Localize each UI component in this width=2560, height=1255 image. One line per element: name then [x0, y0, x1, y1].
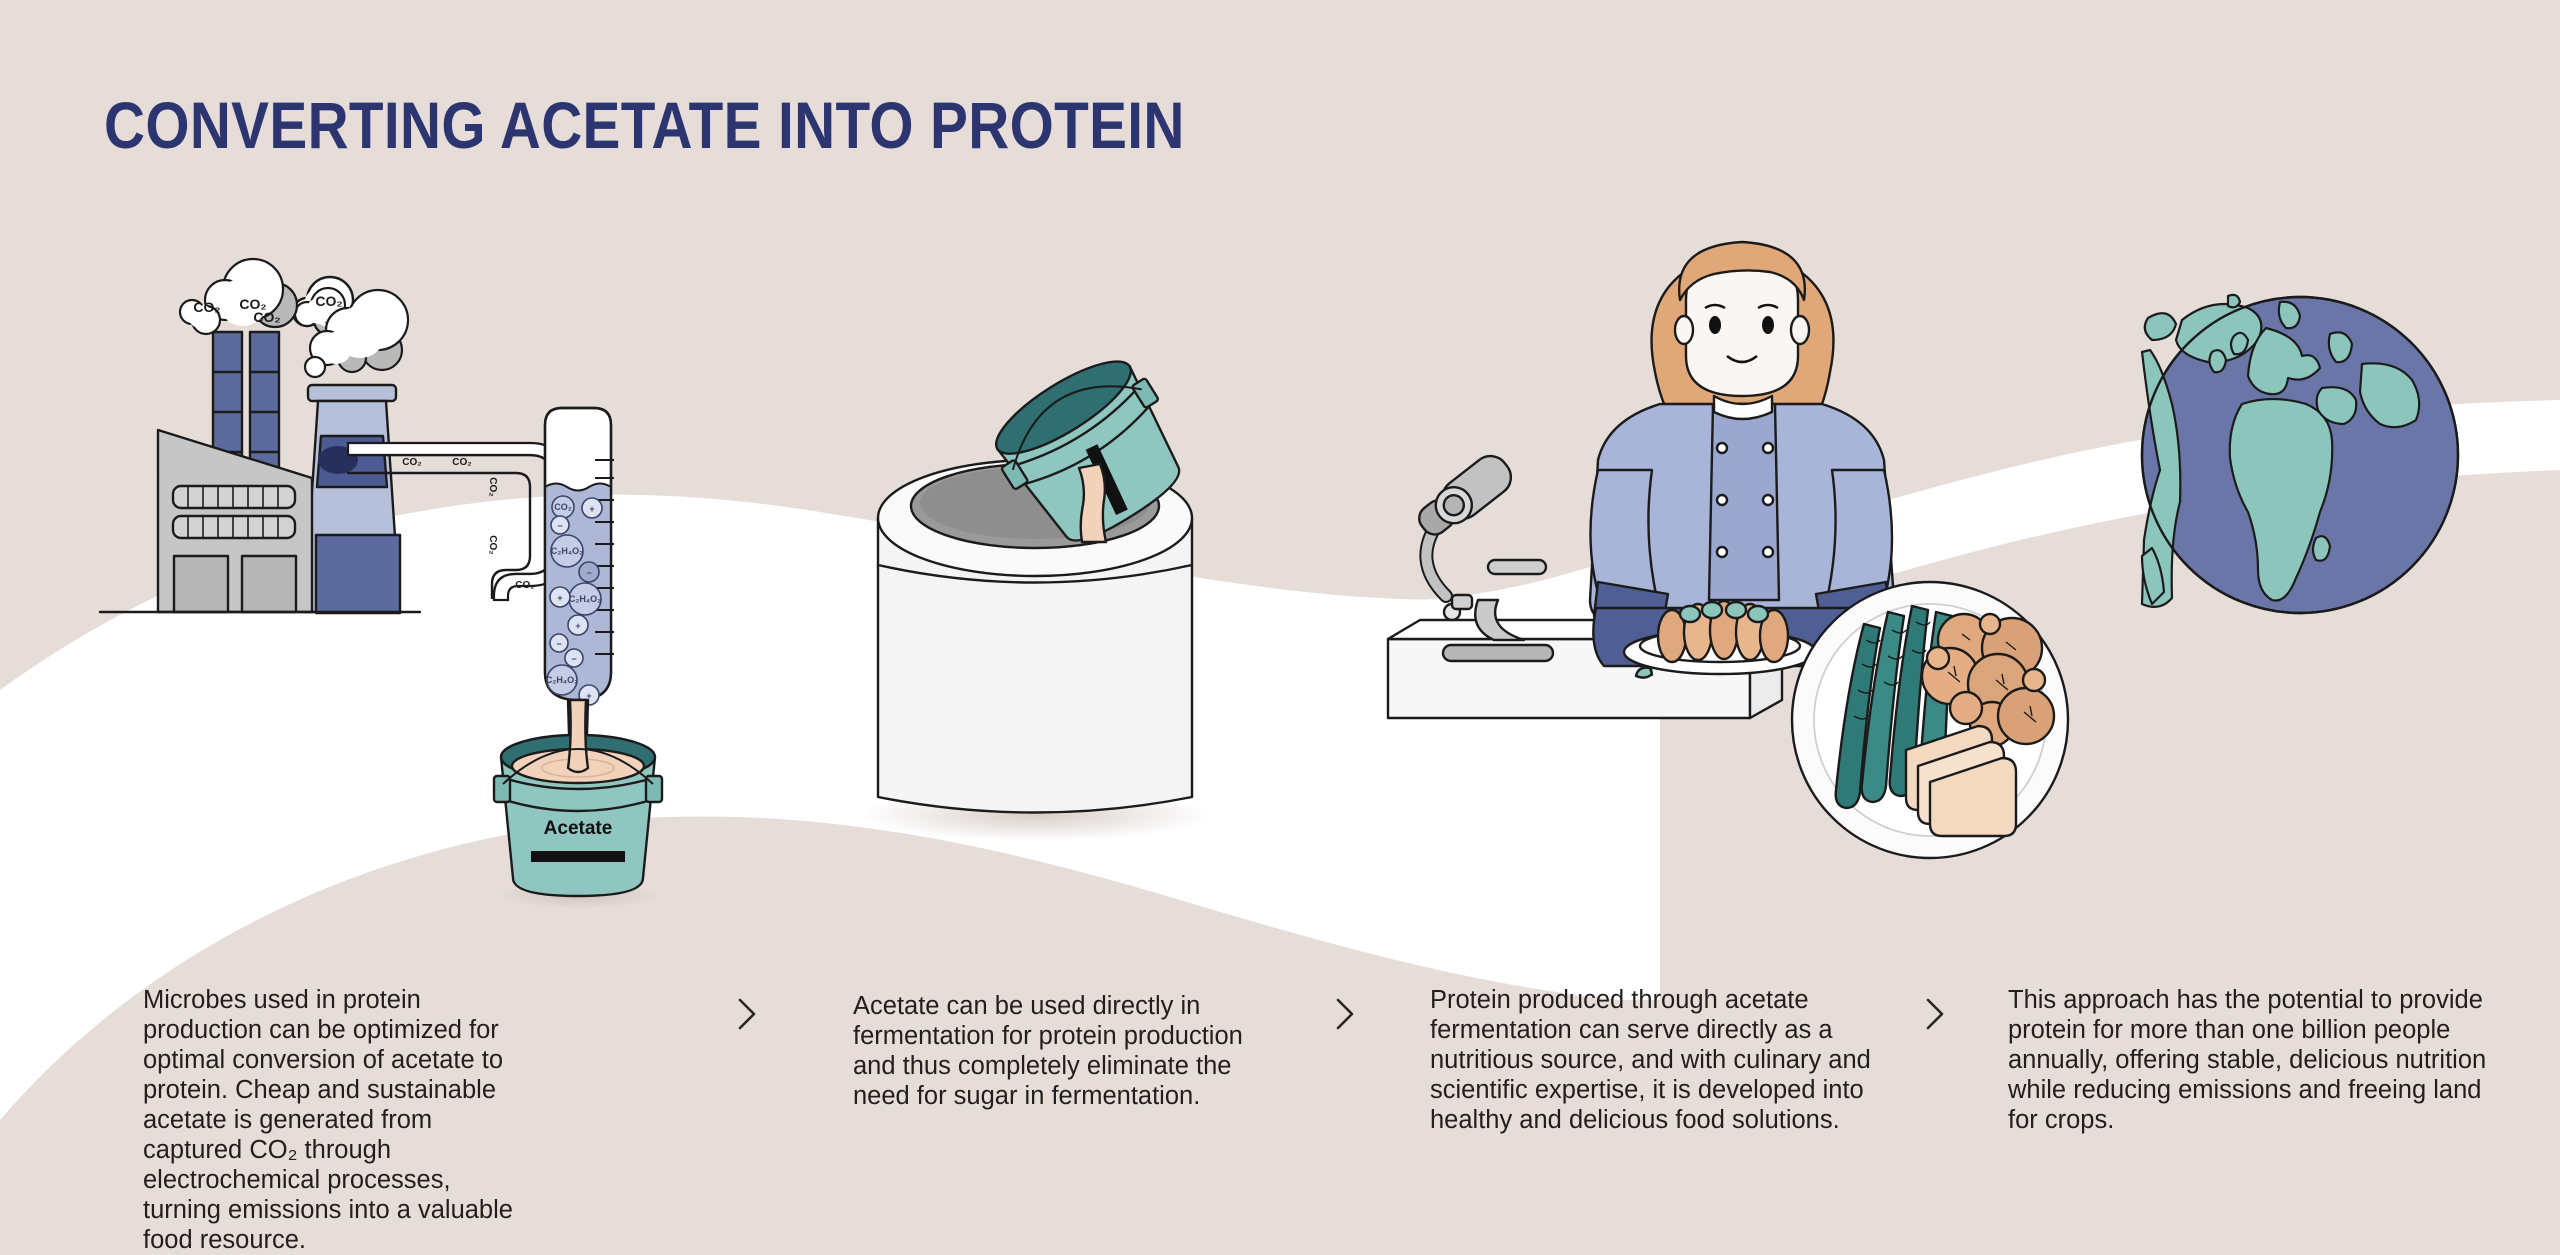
food-plate: [1792, 582, 2068, 858]
step-caption-text-4: This approach has the potential to provi…: [2008, 985, 2488, 1135]
step-caption-4: This approach has the potential to provi…: [2008, 985, 2488, 1135]
svg-text:+: +: [557, 593, 562, 603]
chevron-right-icon-2: [1325, 990, 1365, 1038]
step-caption-text-3: Protein produced through acetate ferment…: [1430, 985, 1910, 1135]
acetate-bucket: Acetate: [494, 700, 662, 909]
co2-label-pipe-5: CO₂: [515, 580, 534, 591]
svg-text:+: +: [589, 504, 594, 514]
step-caption-text-2: Acetate can be used directly in fermenta…: [853, 991, 1253, 1111]
step-caption-3: Protein produced through acetate ferment…: [1430, 985, 1910, 1135]
caption-row: Microbes used in protein production can …: [0, 985, 2560, 1205]
chevron-right-icon-1: [727, 990, 767, 1038]
co2-label-smoke-4: CO₂: [253, 309, 280, 325]
scene-factory: CO₂ CO₂ CO₂ CO₂: [100, 207, 662, 909]
chevron-right-icon-3: [1915, 990, 1955, 1038]
svg-text:+: +: [575, 621, 580, 631]
chef-figure: [1590, 242, 1894, 666]
svg-text:−: −: [557, 521, 562, 531]
svg-text:−: −: [586, 568, 591, 578]
co2-label-pipe-3: CO₂: [487, 477, 498, 496]
co2-label-smoke-3: CO₂: [315, 293, 342, 309]
scene-globe: [2142, 295, 2458, 613]
page-title: CONVERTING ACETATE INTO PROTEIN: [104, 92, 1185, 158]
co2-label-pipe-4: CO₂: [487, 535, 498, 554]
co2-label-pipe-2: CO₂: [452, 457, 471, 468]
svg-text:−: −: [556, 639, 561, 649]
co2-label-pipe-1: CO₂: [402, 457, 421, 468]
svg-text:CO₂: CO₂: [554, 502, 572, 512]
factory-building: [158, 430, 312, 612]
co2-label-smoke-2: CO₂: [193, 299, 220, 315]
infographic-canvas: .st{fill:none;stroke:#1b1b1b;stroke-widt…: [0, 0, 2560, 1225]
bucket-label: Acetate: [544, 818, 613, 839]
svg-text:C₂H₄O₂: C₂H₄O₂: [569, 594, 601, 604]
svg-text:C₂H₄O₂: C₂H₄O₂: [551, 546, 583, 556]
step-caption-text-1: Microbes used in protein production can …: [143, 985, 533, 1255]
cooling-tower: [304, 385, 400, 613]
step-caption-2: Acetate can be used directly in fermenta…: [853, 991, 1253, 1111]
svg-text:−: −: [571, 654, 576, 664]
svg-text:C₂H₄O₂: C₂H₄O₂: [546, 675, 578, 685]
step-caption-1: Microbes used in protein production can …: [143, 985, 533, 1255]
scene-fermentation-tank: [860, 342, 1210, 841]
